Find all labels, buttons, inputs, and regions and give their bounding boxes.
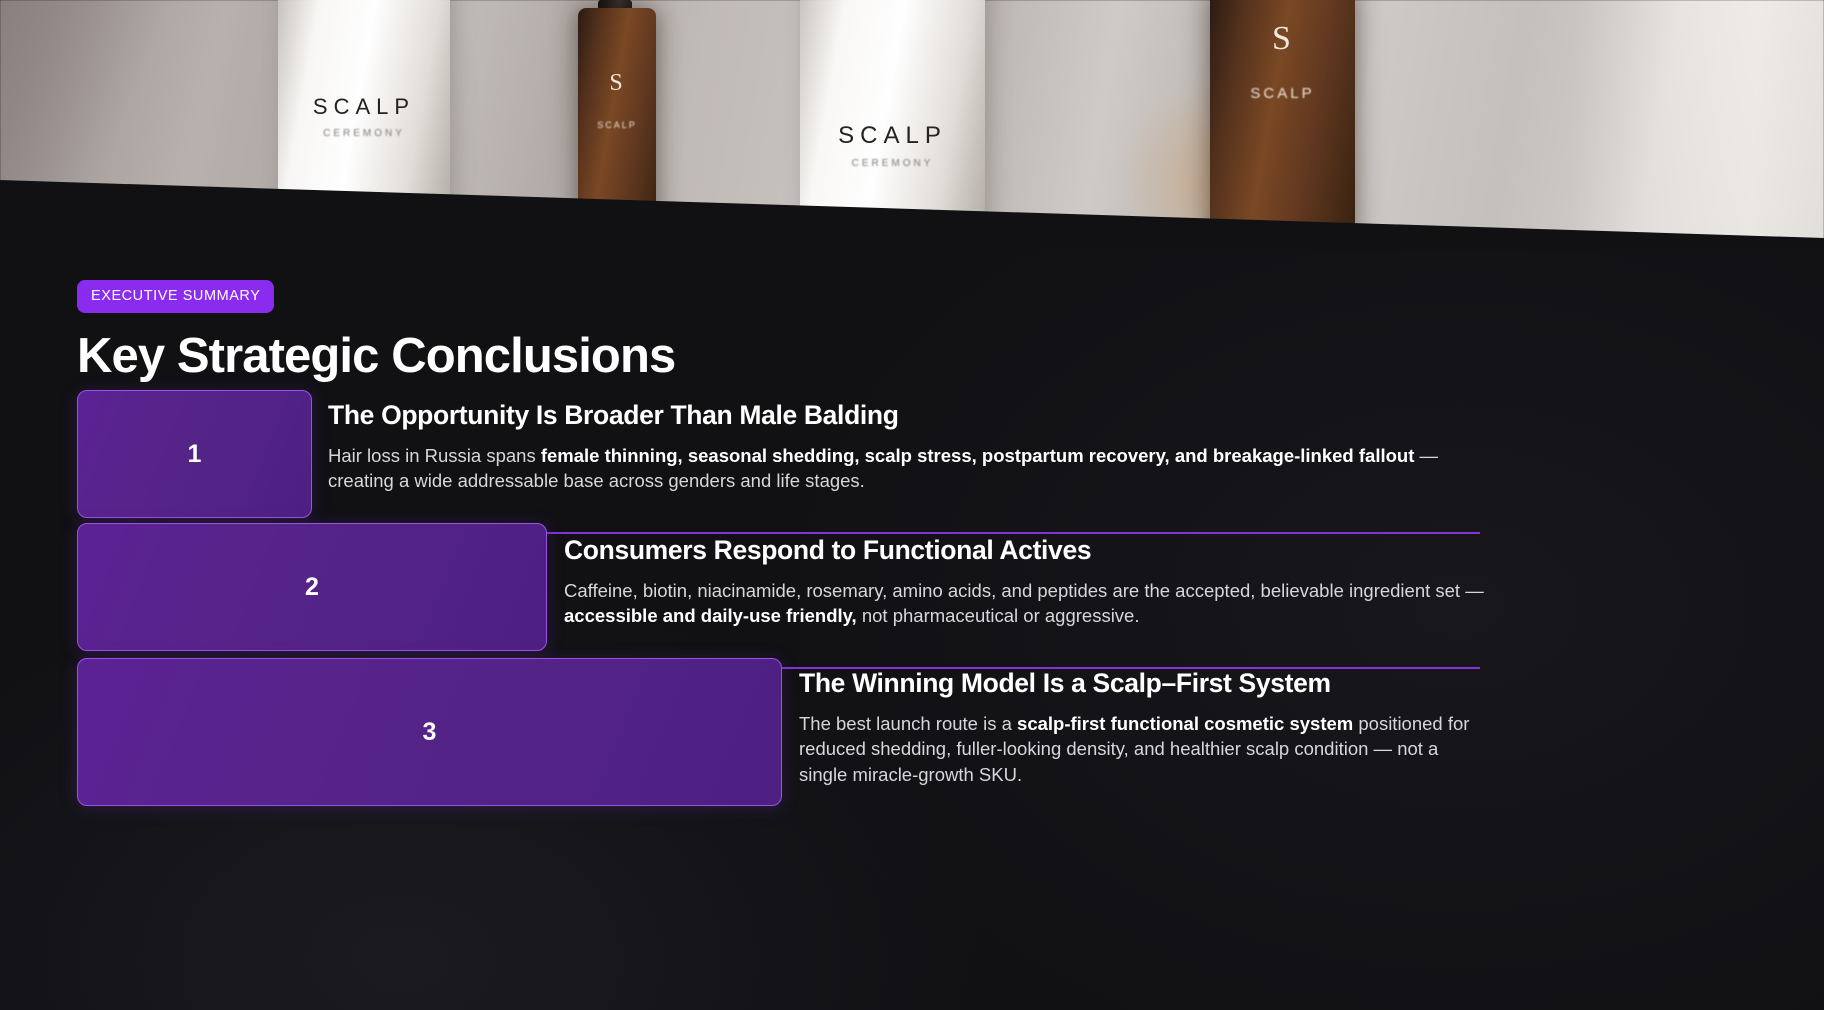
item-title-3: The Winning Model Is a Scalp–First Syste…: [799, 668, 1479, 699]
item-text-2: Caffeine, biotin, niacinamide, rosemary,…: [564, 578, 1484, 629]
product-bottle-amber-4: S SCALP: [1210, 0, 1355, 250]
slide-root: SCALP CEREMONY S SCALP SCALP CEREMONY S …: [0, 0, 1824, 1010]
status-badge: EXECUTIVE SUMMARY: [77, 280, 274, 313]
product-sublabel-2: SCALP: [578, 120, 656, 130]
item-body-1: The Opportunity Is Broader Than Male Bal…: [328, 400, 1478, 494]
product-sublabel-4: SCALP: [1210, 85, 1355, 102]
item-body-2: Consumers Respond to Functional Actives …: [564, 535, 1484, 629]
item-text-lead-2: Caffeine, biotin, niacinamide, rosemary,…: [564, 580, 1484, 601]
product-bottle-white-3: SCALP CEREMONY: [800, 0, 985, 225]
product-bottle-white-1: SCALP CEREMONY: [278, 0, 450, 210]
item-title-1: The Opportunity Is Broader Than Male Bal…: [328, 400, 1478, 431]
item-text-bold-2: accessible and daily-use friendly,: [564, 605, 857, 626]
product-label-1: SCALP: [278, 94, 450, 120]
product-label-4: S: [1210, 20, 1355, 58]
item-number-2: 2: [305, 573, 319, 602]
product-sublabel-3: CEREMONY: [800, 158, 985, 169]
item-text-bold-1: female thinning, seasonal shedding, scal…: [541, 445, 1415, 466]
item-number-box-1: 1: [77, 390, 312, 518]
item-title-2: Consumers Respond to Functional Actives: [564, 535, 1484, 566]
page-title: Key Strategic Conclusions: [77, 330, 675, 383]
item-text-lead-1: Hair loss in Russia spans: [328, 445, 541, 466]
hero-image: SCALP CEREMONY S SCALP SCALP CEREMONY S …: [0, 0, 1824, 250]
item-text-1: Hair loss in Russia spans female thinnin…: [328, 443, 1478, 494]
item-number-box-3: 3: [77, 658, 782, 806]
product-label-2: S: [578, 70, 656, 97]
product-label-3: SCALP: [800, 122, 985, 150]
item-text-lead-3: The best launch route is a: [799, 713, 1017, 734]
item-text-tail-2: not pharmaceutical or aggressive.: [857, 605, 1140, 626]
item-body-3: The Winning Model Is a Scalp–First Syste…: [799, 668, 1479, 787]
item-text-3: The best launch route is a scalp-first f…: [799, 711, 1479, 787]
item-number-box-2: 2: [77, 523, 547, 651]
product-sublabel-1: CEREMONY: [278, 128, 450, 139]
item-text-bold-3: scalp-first functional cosmetic system: [1017, 713, 1353, 734]
item-number-3: 3: [423, 718, 437, 747]
item-number-1: 1: [188, 440, 202, 469]
